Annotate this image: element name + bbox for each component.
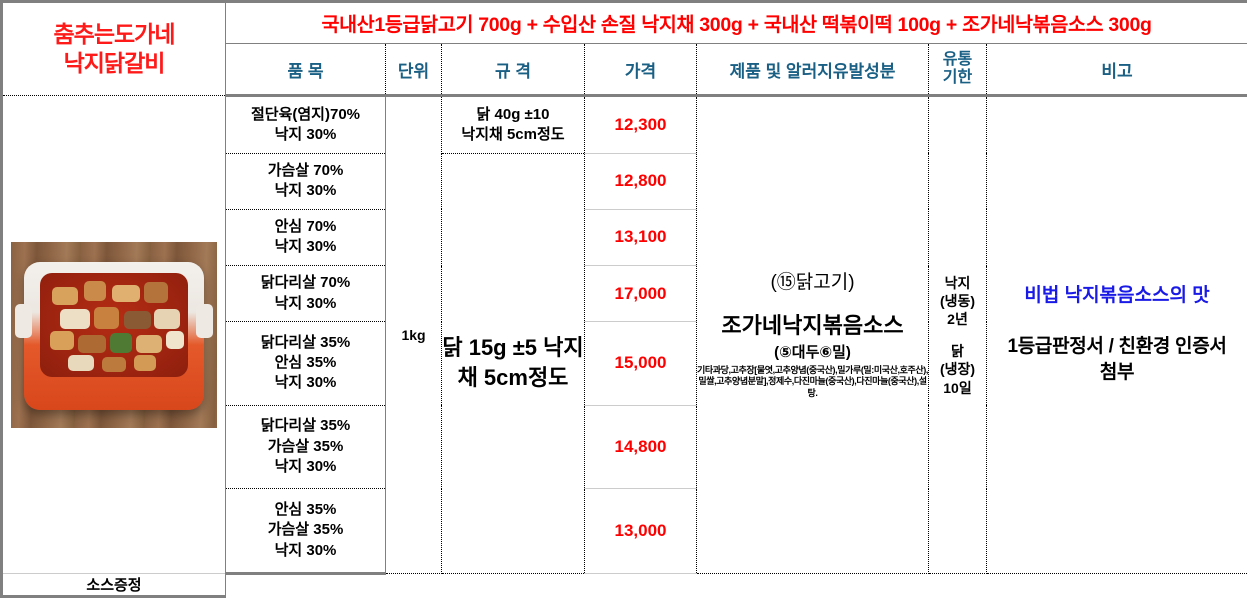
remark-highlight: 비법 낙지볶음소스의 맛 bbox=[987, 283, 1247, 310]
header-expiry: 유통 기한 bbox=[929, 43, 987, 95]
product-photo bbox=[2, 96, 226, 574]
price-cell: 12,300 bbox=[585, 96, 697, 153]
bonus-cell: 소스증정 bbox=[2, 574, 226, 597]
remark-certificate-line-1: 1등급판정서 / 친환경 인증서 bbox=[987, 334, 1247, 361]
spec-line: 닭 40g ±10 bbox=[477, 106, 550, 123]
product-banner: 국내산1등급닭고기 700g + 수입산 손질 낙지채 300g + 국내산 떡… bbox=[226, 2, 1247, 44]
banner-row: 춤추는도가네 낙지닭갈비 국내산1등급닭고기 700g + 수입산 손질 낙지채… bbox=[2, 2, 1247, 44]
spacer-cell bbox=[386, 574, 442, 597]
expiry-spacer bbox=[929, 328, 986, 342]
expiry-octopus-state: (냉동) bbox=[929, 292, 986, 310]
header-item: 품 목 bbox=[226, 43, 386, 95]
header-expiry-line-1: 유통 bbox=[943, 51, 972, 68]
item-line: 닭다리살 70% bbox=[261, 274, 350, 291]
spacer-cell bbox=[987, 574, 1247, 597]
expiry-octopus-name: 낙지 bbox=[929, 274, 986, 292]
remarks-cell: 비법 낙지볶음소스의 맛 1등급판정서 / 친환경 인증서 첨부 bbox=[987, 96, 1247, 574]
dish-contents bbox=[40, 273, 188, 377]
price-cell: 12,800 bbox=[585, 153, 697, 209]
item-name-cell: 닭다리살 35% 안심 35% 낙지 30% bbox=[226, 322, 386, 405]
header-price: 가격 bbox=[585, 43, 697, 95]
header-remarks: 비고 bbox=[987, 43, 1247, 95]
item-line: 안심 35% bbox=[275, 501, 337, 518]
item-line: 절단육(염지)70% bbox=[251, 106, 360, 123]
spacer-cell bbox=[585, 574, 697, 597]
banner-text: 국내산1등급닭고기 700g + 수입산 손질 낙지채 300g + 국내산 떡… bbox=[321, 14, 1151, 36]
remark-certificate-line-2: 첨부 bbox=[987, 360, 1247, 387]
price-cell: 14,800 bbox=[585, 405, 697, 488]
spec-cell-rest: 닭 15g ±5 낙지채 5cm정도 bbox=[442, 153, 585, 573]
spacer-cell bbox=[442, 574, 585, 597]
ingredient-code: (⑮닭고기) bbox=[697, 271, 928, 296]
item-name-cell: 안심 70% 낙지 30% bbox=[226, 209, 386, 265]
item-line: 낙지 30% bbox=[275, 374, 337, 391]
item-line: 가슴살 35% bbox=[268, 521, 344, 538]
price-cell: 13,100 bbox=[585, 209, 697, 265]
price-cell: 13,000 bbox=[585, 489, 697, 574]
brand-logo: 춤추는도가네 낙지닭갈비 bbox=[2, 2, 226, 96]
product-photo-image bbox=[11, 242, 217, 428]
expiry-octopus-period: 2년 bbox=[929, 310, 986, 328]
item-line: 낙지 30% bbox=[275, 126, 337, 143]
item-line: 낙지 30% bbox=[275, 182, 337, 199]
expiry-chicken-period: 10일 bbox=[929, 379, 986, 397]
dish-handle-left bbox=[15, 304, 32, 338]
expiry-cell: 낙지 (냉동) 2년 닭 (냉장) 10일 bbox=[929, 96, 987, 574]
brand-line-1: 춤추는도가네 bbox=[3, 20, 225, 49]
item-line: 낙지 30% bbox=[275, 238, 337, 255]
spacer-cell bbox=[697, 574, 929, 597]
item-name-cell: 절단육(염지)70% 낙지 30% bbox=[226, 96, 386, 153]
spec-table: 춤추는도가네 낙지닭갈비 국내산1등급닭고기 700g + 수입산 손질 낙지채… bbox=[0, 0, 1247, 598]
item-line: 가슴살 35% bbox=[268, 438, 344, 455]
bonus-row: 소스증정 bbox=[2, 574, 1247, 597]
ceramic-dish bbox=[24, 262, 204, 410]
header-expiry-line-2: 기한 bbox=[943, 69, 972, 86]
brand-line-2: 낙지닭갈비 bbox=[3, 49, 225, 78]
spec-cell-first: 닭 40g ±10 낙지채 5cm정도 bbox=[442, 96, 585, 153]
header-ingredients: 제품 및 알러지유발성분 bbox=[697, 43, 929, 95]
item-line: 닭다리살 35% bbox=[261, 334, 350, 351]
sauce-name: 조가네낙지볶음소스 bbox=[697, 312, 928, 341]
header-spec: 규 격 bbox=[442, 43, 585, 95]
item-name-cell: 안심 35% 가슴살 35% 낙지 30% bbox=[226, 489, 386, 574]
ingredients-cell: (⑮닭고기) 조가네낙지볶음소스 (⑤대두⑥밀) 기타과당,고추장[물엿,고추양… bbox=[697, 96, 929, 574]
item-line: 낙지 30% bbox=[275, 542, 337, 559]
table-row: 절단육(염지)70% 낙지 30% 1kg 닭 40g ±10 낙지채 5cm정… bbox=[2, 96, 1247, 153]
spec-line: 낙지채 5cm정도 bbox=[461, 126, 564, 143]
expiry-chicken-state: (냉장) bbox=[929, 360, 986, 378]
item-line: 안심 35% bbox=[275, 354, 337, 371]
spacer-cell bbox=[226, 574, 386, 597]
unit-cell: 1kg bbox=[386, 96, 442, 574]
dish-handle-right bbox=[196, 304, 213, 338]
spacer-cell bbox=[929, 574, 987, 597]
header-unit: 단위 bbox=[386, 43, 442, 95]
ingredient-detail: 기타과당,고추장[물엿,고추양념(중국산),밀가루(밀:미국산,호주산),밀쌀,… bbox=[697, 365, 928, 399]
price-cell: 15,000 bbox=[585, 322, 697, 405]
item-line: 낙지 30% bbox=[275, 458, 337, 475]
expiry-chicken-name: 닭 bbox=[929, 342, 986, 360]
allergen-code: (⑤대두⑥밀) bbox=[697, 343, 928, 363]
item-line: 낙지 30% bbox=[275, 295, 337, 312]
product-spec-sheet: 춤추는도가네 낙지닭갈비 국내산1등급닭고기 700g + 수입산 손질 낙지채… bbox=[0, 0, 1247, 598]
item-line: 닭다리살 35% bbox=[261, 417, 350, 434]
item-line: 안심 70% bbox=[275, 218, 337, 235]
item-name-cell: 닭다리살 70% 낙지 30% bbox=[226, 266, 386, 322]
item-name-cell: 가슴살 70% 낙지 30% bbox=[226, 153, 386, 209]
item-name-cell: 닭다리살 35% 가슴살 35% 낙지 30% bbox=[226, 405, 386, 488]
item-line: 가슴살 70% bbox=[268, 162, 344, 179]
price-cell: 17,000 bbox=[585, 266, 697, 322]
